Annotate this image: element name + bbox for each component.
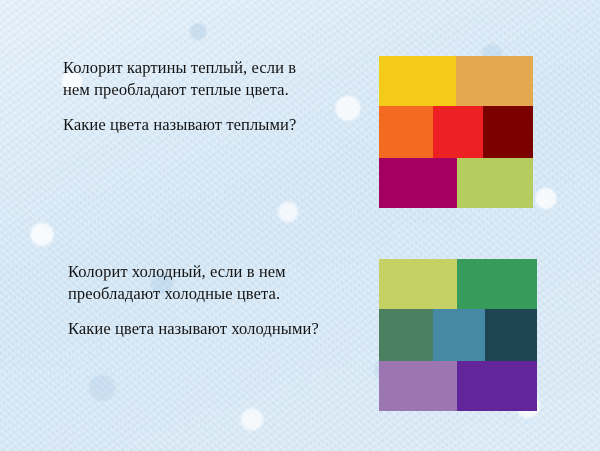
warm-swatch-yellow bbox=[379, 56, 456, 106]
cool-swatch-yellow-green bbox=[379, 259, 457, 309]
warm-swatch-yellow-green bbox=[457, 158, 533, 208]
cool-colors-text-block: Колорит холодный, если в нем преобладают… bbox=[68, 261, 334, 340]
warm-swatch-dark-red bbox=[483, 106, 533, 158]
cool-color-grid bbox=[379, 259, 537, 411]
cool-definition-paragraph: Колорит холодный, если в нем преобладают… bbox=[68, 261, 334, 305]
warm-color-grid bbox=[379, 56, 533, 208]
cool-question-paragraph: Какие цвета называют холодными? bbox=[68, 318, 334, 340]
cool-swatch-light-purple bbox=[379, 361, 457, 411]
warm-color-row-2 bbox=[379, 106, 533, 158]
cool-color-row-1 bbox=[379, 259, 537, 309]
warm-definition-paragraph: Колорит картины теплый, если в нем преоб… bbox=[63, 57, 325, 101]
warm-swatch-magenta bbox=[379, 158, 457, 208]
slide-canvas: Колорит картины теплый, если в нем преоб… bbox=[0, 0, 600, 451]
warm-colors-text-block: Колорит картины теплый, если в нем преоб… bbox=[63, 57, 325, 136]
cool-swatch-green bbox=[457, 259, 537, 309]
cool-color-row-2 bbox=[379, 309, 537, 361]
warm-swatch-red bbox=[433, 106, 483, 158]
warm-color-row-3 bbox=[379, 158, 533, 208]
warm-swatch-orange bbox=[379, 106, 433, 158]
warm-color-row-1 bbox=[379, 56, 533, 106]
warm-swatch-amber bbox=[456, 56, 533, 106]
cool-swatch-steel-blue bbox=[433, 309, 485, 361]
cool-swatch-deep-violet bbox=[457, 361, 537, 411]
cool-color-row-3 bbox=[379, 361, 537, 411]
cool-swatch-sage-green bbox=[379, 309, 433, 361]
cool-swatch-dark-teal bbox=[485, 309, 537, 361]
warm-question-paragraph: Какие цвета называют теплыми? bbox=[63, 114, 325, 136]
